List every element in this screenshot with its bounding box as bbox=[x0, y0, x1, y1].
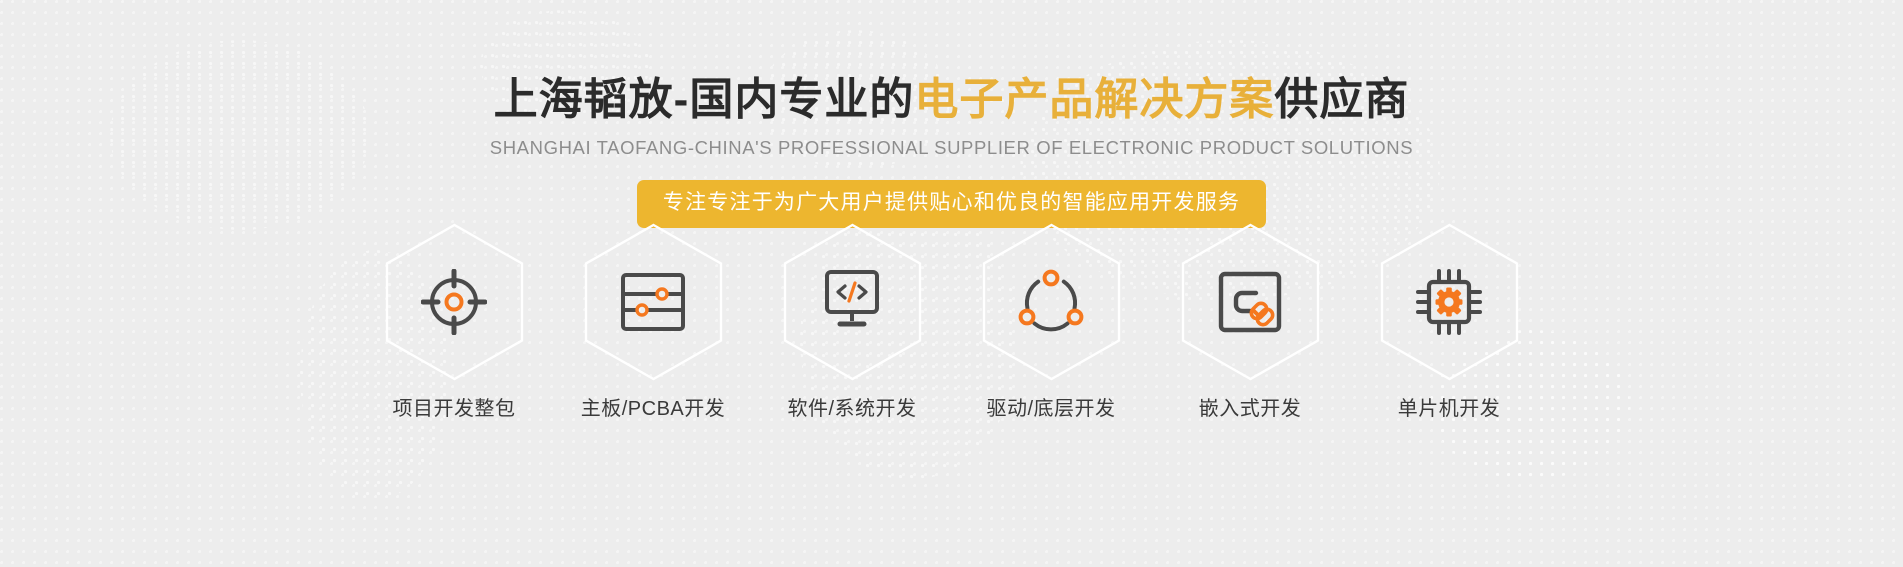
service-label: 嵌入式开发 bbox=[1199, 396, 1302, 422]
headline-part-2: 供应商 bbox=[1274, 75, 1409, 124]
page-title: 上海韬放-国内专业的电子产品解决方案供应商 bbox=[0, 0, 1903, 126]
hero-text-block: 上海韬放-国内专业的电子产品解决方案供应商 SHANGHAI TAOFANG-C… bbox=[0, 0, 1903, 228]
tagline-badge: 专注专注于为广大用户提供贴心和优良的智能应用开发服务 bbox=[637, 180, 1266, 228]
headline-highlight: 电子产品解决方案 bbox=[914, 75, 1274, 124]
circuit-board-icon bbox=[618, 267, 688, 337]
service-item-software-system[interactable]: 软件/系统开发 bbox=[773, 222, 931, 422]
service-item-embedded[interactable]: 嵌入式开发 bbox=[1171, 222, 1329, 422]
hexagon-frame bbox=[581, 222, 726, 382]
network-nodes-icon bbox=[1016, 267, 1086, 337]
service-label: 单片机开发 bbox=[1398, 396, 1501, 422]
service-label: 项目开发整包 bbox=[393, 396, 516, 422]
service-list: 项目开发整包 bbox=[0, 222, 1903, 422]
service-item-pcba[interactable]: 主板/PCBA开发 bbox=[574, 222, 732, 422]
page-subtitle: SHANGHAI TAOFANG-CHINA'S PROFESSIONAL SU… bbox=[0, 126, 1903, 160]
service-item-driver-lowlevel[interactable]: 驱动/底层开发 bbox=[972, 222, 1130, 422]
service-item-mcu[interactable]: 单片机开发 bbox=[1370, 222, 1528, 422]
service-label: 驱动/底层开发 bbox=[986, 396, 1115, 422]
hexagon-frame bbox=[979, 222, 1124, 382]
service-item-project-package[interactable]: 项目开发整包 bbox=[375, 222, 533, 422]
monitor-code-icon bbox=[817, 267, 887, 337]
tagline-badge-wrapper: 专注专注于为广大用户提供贴心和优良的智能应用开发服务 bbox=[0, 180, 1903, 228]
target-crosshair-icon bbox=[419, 267, 489, 337]
hexagon-frame bbox=[382, 222, 527, 382]
hexagon-frame bbox=[1377, 222, 1522, 382]
service-label: 软件/系统开发 bbox=[787, 396, 916, 422]
hero-banner: 上海韬放-国内专业的电子产品解决方案供应商 SHANGHAI TAOFANG-C… bbox=[0, 0, 1903, 567]
hexagon-frame bbox=[780, 222, 925, 382]
service-label: 主板/PCBA开发 bbox=[581, 396, 726, 422]
hexagon-frame bbox=[1178, 222, 1323, 382]
embedded-link-icon bbox=[1215, 267, 1285, 337]
headline-part-1: 上海韬放-国内专业的 bbox=[494, 75, 915, 124]
microchip-gear-icon bbox=[1414, 267, 1484, 337]
